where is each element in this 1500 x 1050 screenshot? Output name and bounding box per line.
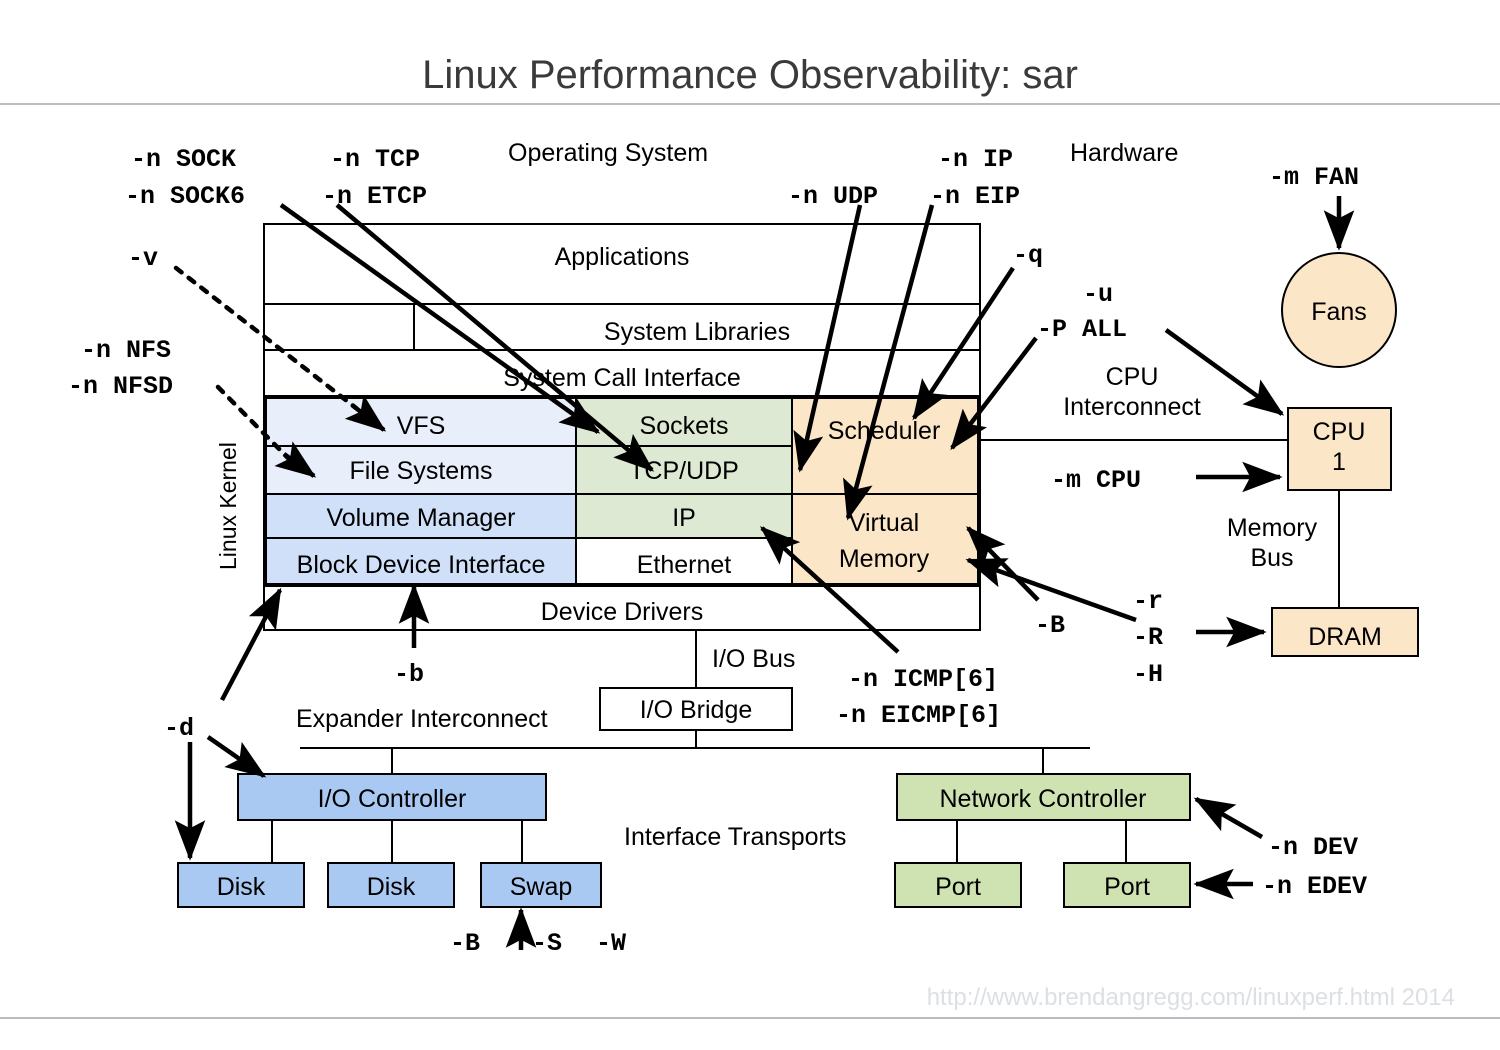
cell-tcp-udp-label: TCP/UDP [629, 457, 739, 485]
cell-block-device-interface-label: Block Device Interface [297, 551, 546, 579]
option-n-sock: -n SOCK [131, 145, 236, 174]
option-n-eip: -n EIP [930, 182, 1020, 211]
cell-file-systems-label: File Systems [349, 457, 492, 485]
option-R: -R [1133, 623, 1163, 652]
option-n-eicmp6: -n EICMP[6] [836, 701, 1001, 730]
cell-sockets-label: Sockets [640, 412, 729, 440]
region-label-operating-system: Operating System [508, 139, 708, 167]
option-n-etcp: -n ETCP [322, 182, 427, 211]
kernel-device-drivers-label: Device Drivers [541, 598, 704, 626]
cpu-interconnect-label-line2: Interconnect [1063, 393, 1201, 421]
cell-scheduler-label: Scheduler [828, 417, 941, 445]
option-n-sock6: -n SOCK6 [125, 182, 245, 211]
option-b-virtual-memory: -B [1035, 611, 1065, 640]
memory-bus-label-line2: Bus [1250, 544, 1293, 572]
kernel-system-libraries-label: System Libraries [604, 318, 790, 346]
memory-bus-label-line1: Memory [1227, 514, 1318, 542]
region-label-linux-kernel: Linux Kernel [215, 442, 241, 570]
option-p-all: -P ALL [1037, 315, 1127, 344]
option-n-icmp6: -n ICMP[6] [848, 665, 998, 694]
option-b: -b [394, 660, 424, 689]
node-fans-label: Fans [1311, 298, 1367, 326]
option-v: -v [128, 244, 158, 273]
option-r: -r [1133, 587, 1163, 616]
node-disk-1-label: Disk [217, 873, 266, 901]
node-swap-label: Swap [510, 873, 573, 901]
node-cpu-label-line1: CPU [1313, 418, 1366, 446]
footer-credit: http://www.brendangregg.com/linuxperf.ht… [927, 984, 1455, 1011]
option-n-udp: -n UDP [788, 182, 878, 211]
option-n-nfs: -n NFS [81, 336, 171, 365]
option-H: -H [1133, 660, 1163, 689]
page-title: Linux Performance Observability: sar [422, 53, 1078, 97]
node-port-2-label: Port [1104, 873, 1150, 901]
cell-virtual-memory-label-line1: Virtual [849, 509, 919, 537]
node-io-bridge-label: I/O Bridge [640, 696, 753, 724]
diagram-canvas: Linux Performance Observability: sar htt… [0, 0, 1500, 1050]
option-n-nfsd: -n NFSD [68, 372, 173, 401]
cell-volume-manager-label: Volume Manager [326, 504, 515, 532]
option-b-swap: -B [450, 929, 480, 958]
option-n-edev: -n EDEV [1262, 872, 1367, 901]
option-n-tcp: -n TCP [330, 145, 420, 174]
node-io-controller-label: I/O Controller [318, 785, 467, 813]
io-bus-label: I/O Bus [712, 645, 795, 673]
option-q: -q [1013, 241, 1043, 270]
expander-interconnect-label: Expander Interconnect [296, 705, 548, 733]
cpu-interconnect-label-line1: CPU [1106, 363, 1159, 391]
option-u: -u [1083, 280, 1113, 309]
cell-vfs-label: VFS [397, 412, 446, 440]
cell-ethernet-label: Ethernet [637, 551, 732, 579]
node-disk-2-label: Disk [367, 873, 416, 901]
cell-virtual-memory-label-line2: Memory [839, 545, 930, 573]
option-s: -S [532, 929, 562, 958]
node-port-1-label: Port [935, 873, 981, 901]
option-w: -W [596, 929, 626, 958]
option-n-ip: -n IP [938, 145, 1013, 174]
cell-scheduler [792, 398, 978, 494]
node-cpu-label-line2: 1 [1332, 448, 1346, 476]
option-n-dev: -n DEV [1268, 833, 1358, 862]
node-network-controller-label: Network Controller [939, 785, 1146, 813]
region-label-hardware: Hardware [1070, 139, 1178, 167]
kernel-applications-label: Applications [555, 243, 690, 271]
interface-transports-label: Interface Transports [624, 823, 846, 851]
option-m-cpu: -m CPU [1051, 466, 1141, 495]
option-d: -d [164, 714, 194, 743]
node-dram-label-alt: DRAM [1308, 623, 1382, 651]
cell-ip-label: IP [672, 504, 696, 532]
option-m-fan: -m FAN [1269, 163, 1359, 192]
